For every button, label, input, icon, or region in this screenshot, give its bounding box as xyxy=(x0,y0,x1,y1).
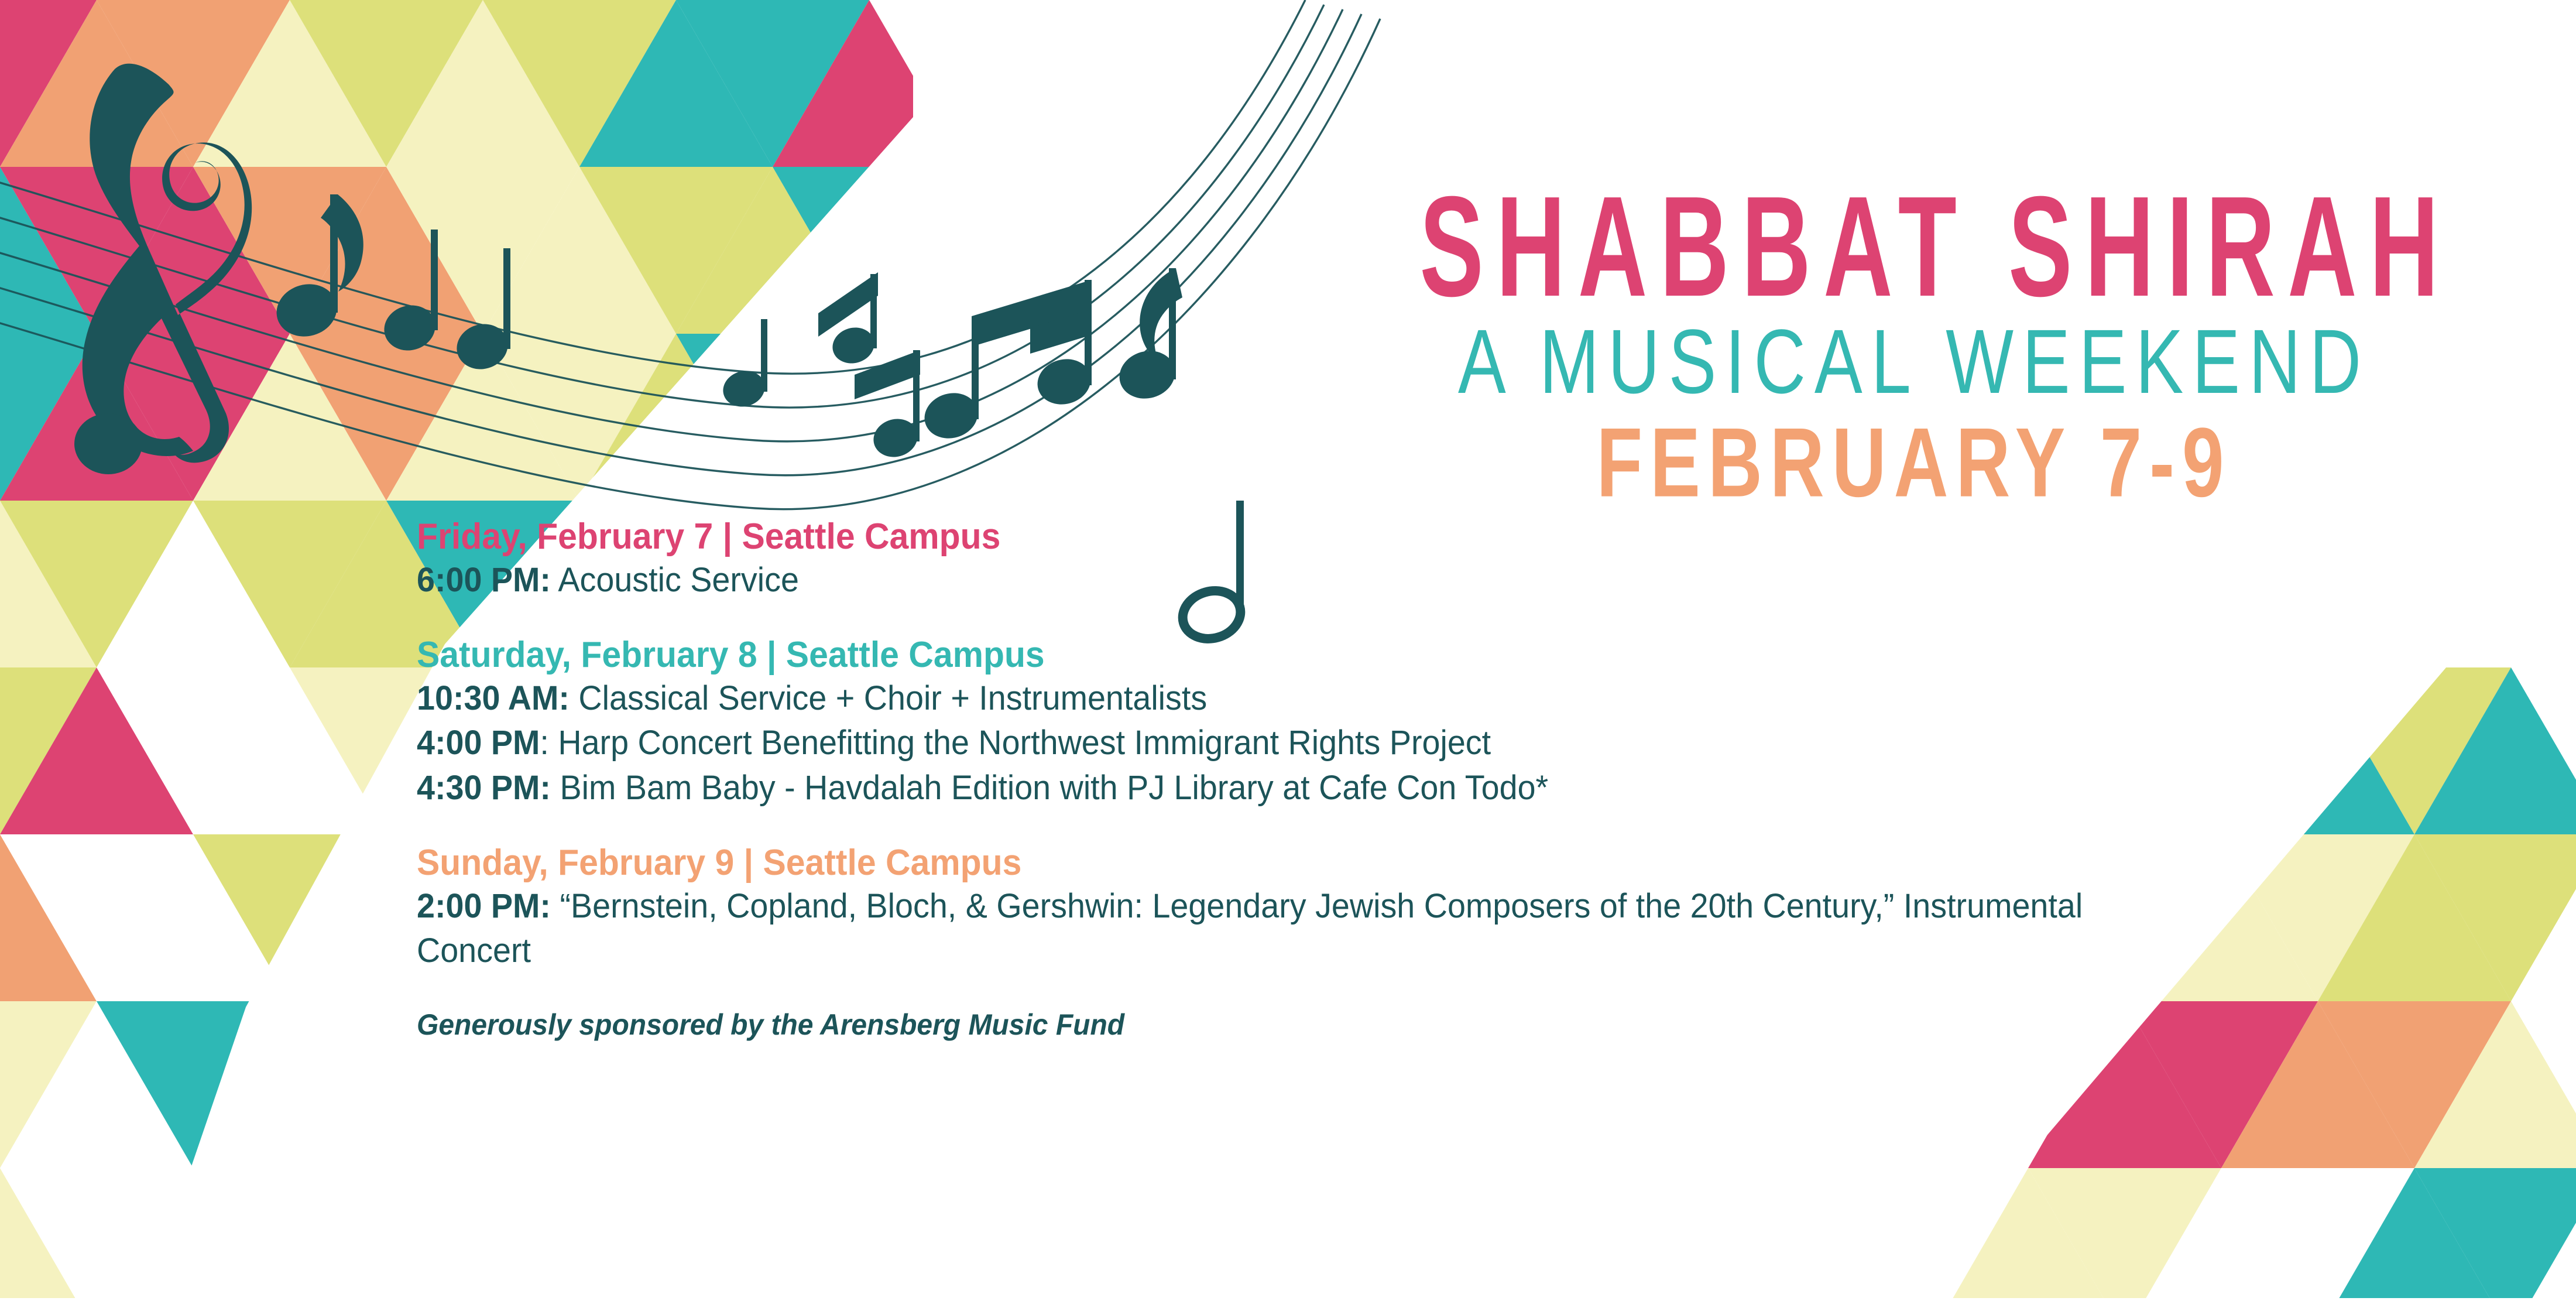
event-row: 4:00 PM: Harp Concert Benefitting the No… xyxy=(417,721,2282,766)
event-time: 4:30 PM: xyxy=(417,769,551,807)
event-time: 10:30 AM: xyxy=(417,679,570,717)
event-row: 2:00 PM: “Bernstein, Copland, Bloch, & G… xyxy=(417,884,2170,974)
day-group-saturday: Saturday, February 8 | Seattle Campus 10… xyxy=(417,634,2360,811)
event-date-range: FEBRUARY 7-9 xyxy=(1359,413,2468,512)
day-heading-sunday: Sunday, February 9 | Seattle Campus xyxy=(417,841,2263,884)
sponsor-note: Generously sponsored by the Arensberg Mu… xyxy=(417,1008,2282,1042)
day-group-friday: Friday, February 7 | Seattle Campus 6:00… xyxy=(417,515,2360,603)
event-row: 4:30 PM: Bim Bam Baby - Havdalah Edition… xyxy=(417,766,2282,811)
staff-lines-icon xyxy=(0,0,1380,509)
event-time: 4:00 PM xyxy=(417,724,540,762)
event-row: 6:00 PM: Acoustic Service xyxy=(417,558,2282,603)
treble-clef-icon xyxy=(74,64,252,474)
schedule-list: Friday, February 7 | Seattle Campus 6:00… xyxy=(417,515,2360,1042)
event-description: Acoustic Service xyxy=(558,561,799,599)
event-row: 10:30 AM: Classical Service + Choir + In… xyxy=(417,676,2282,721)
day-heading-friday: Friday, February 7 | Seattle Campus xyxy=(417,515,2263,558)
page-title: SHABBAT SHIRAH xyxy=(1419,176,2408,319)
event-description: : Harp Concert Benefitting the Northwest… xyxy=(540,724,1491,762)
event-time: 2:00 PM: xyxy=(417,887,551,925)
headline-block: SHABBAT SHIRAH A MUSICAL WEEKEND FEBRUAR… xyxy=(1311,176,2517,495)
event-description: “Bernstein, Copland, Bloch, & Gershwin: … xyxy=(417,887,2083,970)
day-group-sunday: Sunday, February 9 | Seattle Campus 2:00… xyxy=(417,841,2360,974)
page-subtitle: A MUSICAL WEEKEND xyxy=(1353,316,2475,408)
event-description: Classical Service + Choir + Instrumental… xyxy=(578,679,1207,717)
event-description: Bim Bam Baby - Havdalah Edition with PJ … xyxy=(560,769,1548,807)
day-heading-saturday: Saturday, February 8 | Seattle Campus xyxy=(417,634,2263,676)
event-time: 6:00 PM: xyxy=(417,561,551,599)
